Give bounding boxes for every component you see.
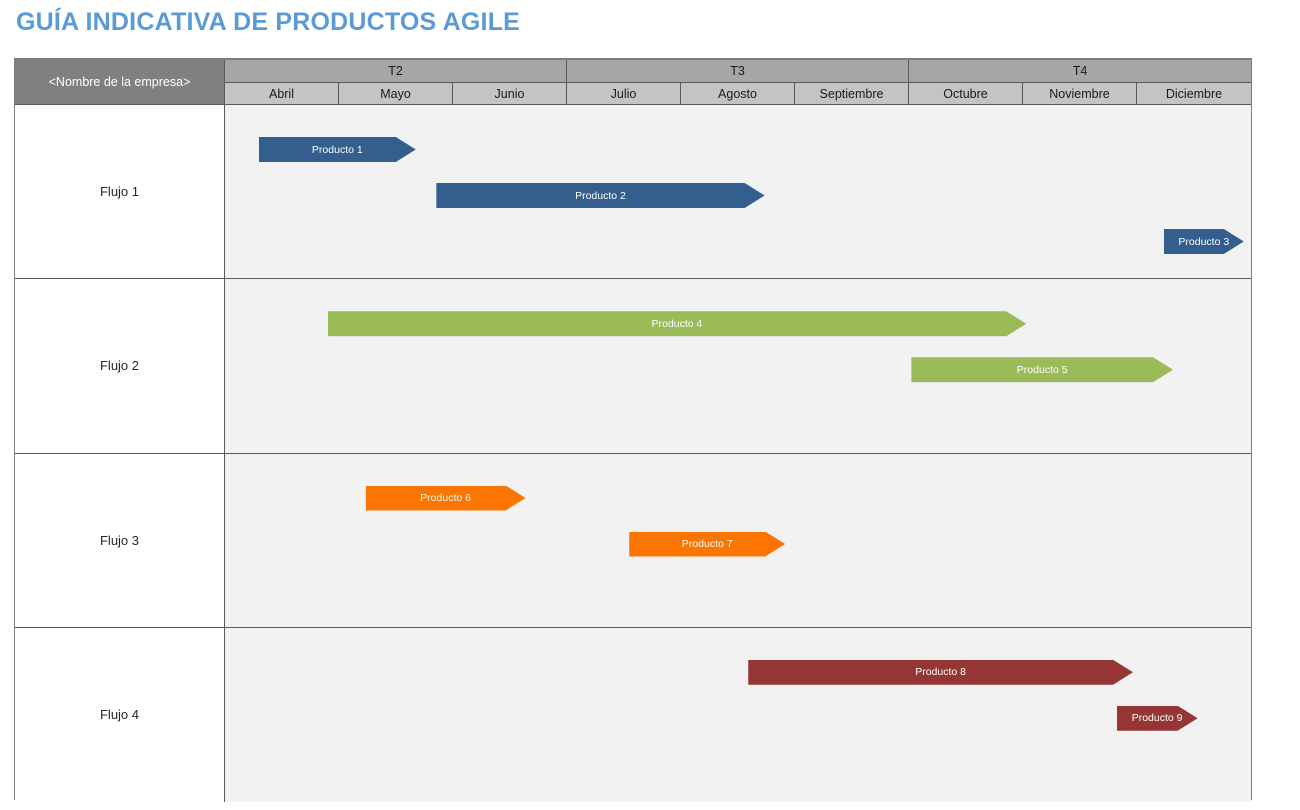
month-header-septiembre: Septiembre: [795, 83, 909, 105]
month-label: Mayo: [380, 87, 411, 101]
gantt-bar-producto-7[interactable]: Producto 7: [629, 532, 785, 557]
gantt-bar-producto-2[interactable]: Producto 2: [436, 183, 764, 208]
month-header-junio: Junio: [453, 83, 567, 105]
gantt-bar-label: Producto 1: [312, 144, 363, 156]
month-header-mayo: Mayo: [339, 83, 453, 105]
row-label-text: Flujo 1: [100, 184, 139, 199]
gantt-bar-label: Producto 7: [682, 538, 733, 550]
month-label: Julio: [611, 87, 637, 101]
company-name-label: <Nombre de la empresa>: [49, 75, 191, 89]
row-plot-area: Producto 4Producto 5: [225, 279, 1251, 452]
gantt-bar-producto-6[interactable]: Producto 6: [366, 486, 526, 511]
gantt-bar-label: Producto 3: [1178, 236, 1229, 248]
row-label-cell[interactable]: Flujo 1: [15, 105, 225, 278]
row-plot-area: Producto 1Producto 2Producto 3: [225, 105, 1251, 278]
row-label-text: Flujo 3: [100, 533, 139, 548]
month-header-noviembre: Noviembre: [1023, 83, 1137, 105]
gantt-bar-label: Producto 2: [575, 190, 626, 202]
gantt-row-flujo-3: Flujo 3Producto 6Producto 7: [15, 454, 1251, 628]
gantt-bar-producto-5[interactable]: Producto 5: [911, 357, 1173, 382]
gantt-chart-table: <Nombre de la empresa> T2T3T4 AbrilMayoJ…: [14, 58, 1252, 800]
month-header-julio: Julio: [567, 83, 681, 105]
row-label-cell[interactable]: Flujo 3: [15, 454, 225, 627]
month-label: Noviembre: [1049, 87, 1109, 101]
gantt-bar-producto-8[interactable]: Producto 8: [748, 660, 1133, 685]
month-label: Abril: [269, 87, 294, 101]
row-label-text: Flujo 2: [100, 358, 139, 373]
gantt-bar-label: Producto 5: [1017, 364, 1068, 376]
page-title: GUÍA INDICATIVA DE PRODUCTOS AGILE: [16, 8, 520, 37]
gantt-row-flujo-1: Flujo 1Producto 1Producto 2Producto 3: [15, 105, 1251, 279]
month-label: Diciembre: [1166, 87, 1222, 101]
quarter-header-row: T2T3T4: [225, 60, 1251, 83]
table-header: <Nombre de la empresa> T2T3T4 AbrilMayoJ…: [15, 60, 1251, 105]
row-plot-area: Producto 8Producto 9: [225, 628, 1251, 802]
gantt-bar-label: Producto 9: [1132, 712, 1183, 724]
quarter-label: T2: [388, 64, 403, 78]
month-label: Septiembre: [820, 87, 884, 101]
gantt-bar-producto-9[interactable]: Producto 9: [1117, 706, 1198, 731]
month-header-row: AbrilMayoJunioJulioAgostoSeptiembreOctub…: [225, 83, 1251, 105]
gantt-bar-producto-1[interactable]: Producto 1: [259, 137, 416, 162]
gantt-bar-producto-3[interactable]: Producto 3: [1164, 229, 1244, 254]
month-label: Octubre: [943, 87, 987, 101]
month-header-agosto: Agosto: [681, 83, 795, 105]
quarter-header-t2: T2: [225, 60, 567, 83]
row-label-cell[interactable]: Flujo 4: [15, 628, 225, 802]
gantt-bar-label: Producto 4: [652, 318, 703, 330]
quarter-header-t4: T4: [909, 60, 1251, 83]
month-header-abril: Abril: [225, 83, 339, 105]
quarter-label: T4: [1073, 64, 1088, 78]
gantt-bar-label: Producto 6: [420, 492, 471, 504]
month-label: Junio: [495, 87, 525, 101]
table-body: Flujo 1Producto 1Producto 2Producto 3Flu…: [15, 105, 1251, 802]
gantt-bar-producto-4[interactable]: Producto 4: [328, 311, 1027, 336]
month-header-diciembre: Diciembre: [1137, 83, 1251, 105]
quarter-header-t3: T3: [567, 60, 909, 83]
row-plot-area: Producto 6Producto 7: [225, 454, 1251, 627]
month-header-octubre: Octubre: [909, 83, 1023, 105]
gantt-row-flujo-4: Flujo 4Producto 8Producto 9: [15, 628, 1251, 802]
quarter-label: T3: [730, 64, 745, 78]
gantt-row-flujo-2: Flujo 2Producto 4Producto 5: [15, 279, 1251, 453]
row-label-cell[interactable]: Flujo 2: [15, 279, 225, 452]
company-name-header-cell[interactable]: <Nombre de la empresa>: [15, 60, 225, 105]
gantt-bar-label: Producto 8: [915, 666, 966, 678]
row-label-text: Flujo 4: [100, 707, 139, 722]
month-label: Agosto: [718, 87, 757, 101]
